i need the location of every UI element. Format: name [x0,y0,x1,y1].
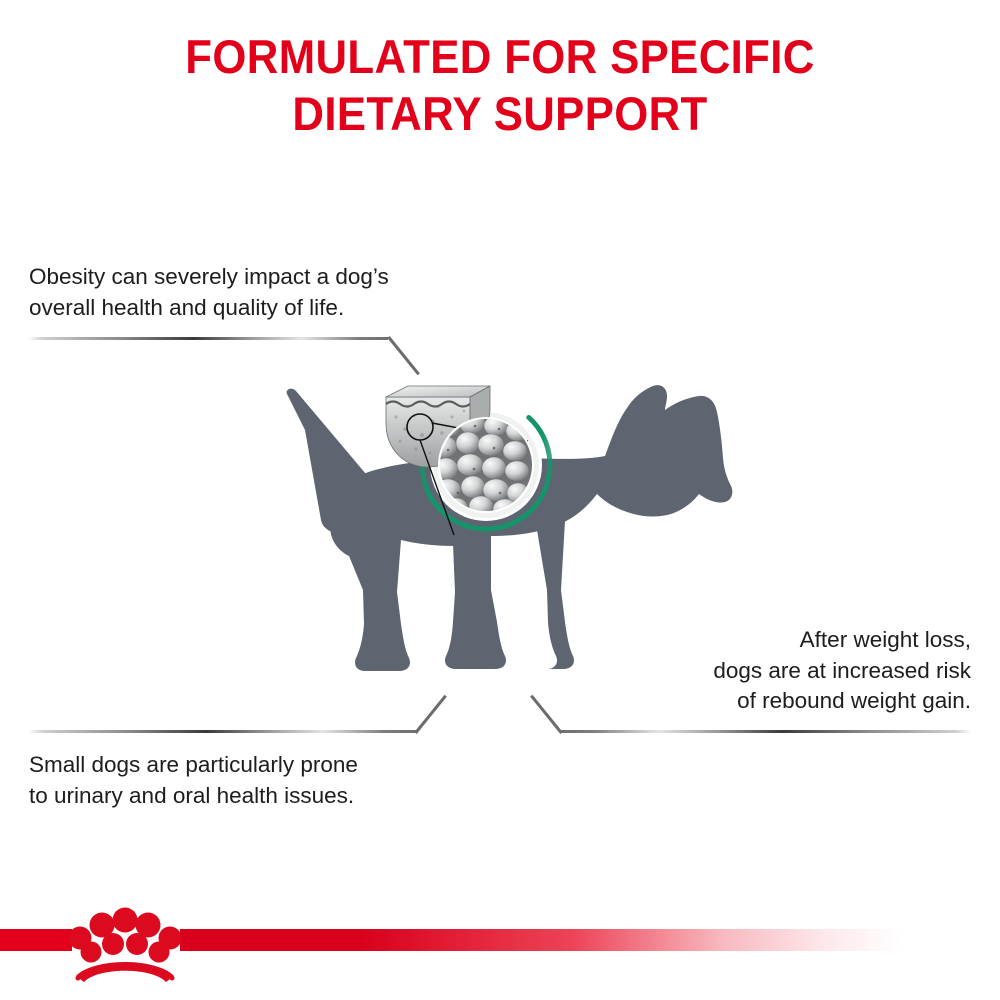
connector-line-horizontal [28,730,416,733]
page-title: FORMULATED FOR SPECIFIC DIETARY SUPPORT [35,28,965,143]
headline-line-2: DIETARY SUPPORT [35,85,965,142]
footer-bar-left [0,929,72,951]
headline-line-1: FORMULATED FOR SPECIFIC [35,28,965,85]
footer-bar-right [180,929,1000,951]
callout-obesity: Obesity can severely impact a dog’s over… [29,262,499,323]
connector-line-horizontal [560,730,972,733]
poster-root: FORMULATED FOR SPECIFIC DIETARY SUPPORT … [0,0,1000,1000]
callout-small-dog-health: Small dogs are particularly prone to uri… [29,750,499,811]
connector-line-horizontal [28,337,388,340]
crown-logo-icon [66,900,184,984]
royal-canin-logo [66,900,184,984]
kibble-inset [378,383,558,543]
